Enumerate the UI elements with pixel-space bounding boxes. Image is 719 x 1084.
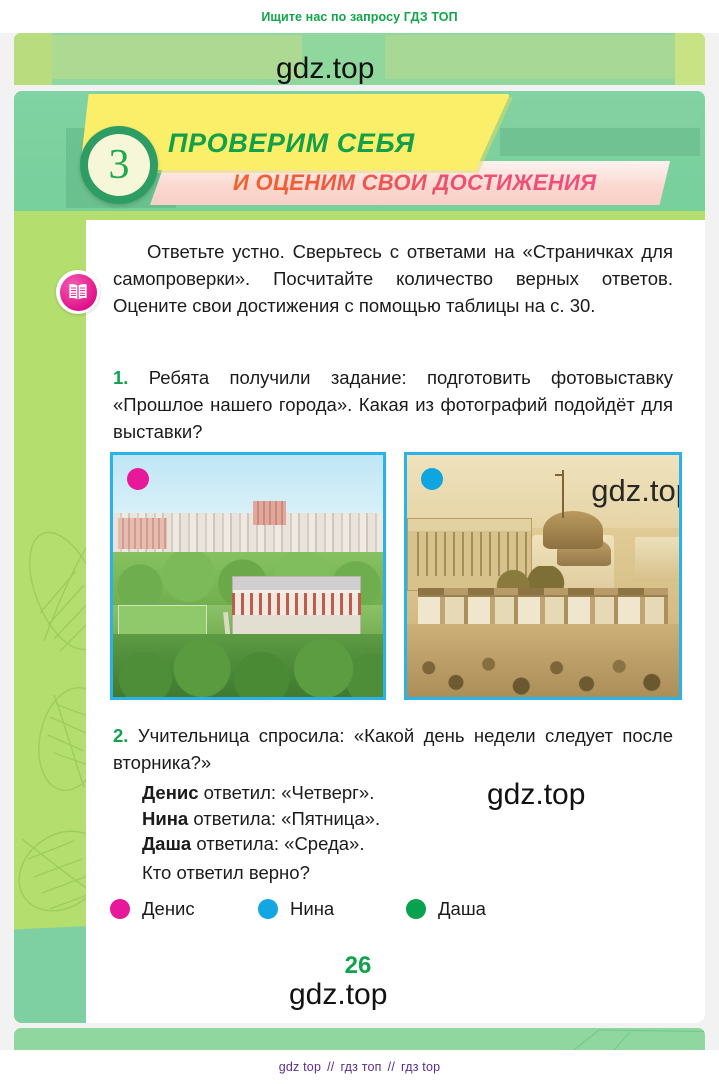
photo1-school-windows [232,593,362,615]
photo-watermark: gdz.top [591,473,682,509]
question-1-text: Ребята получили задание: подготовить фот… [113,367,673,442]
option-dot-magenta [110,899,130,919]
page-number: 26 [345,952,372,980]
question-2-text: Учительница спросила: «Какой день недели… [113,725,673,773]
footer-separator-2: // [388,1060,395,1074]
answer-name: Даша [142,833,191,854]
prev-page-pale-block [52,35,302,79]
option-dot-blue [258,899,278,919]
option-nina[interactable]: Нина [258,898,334,920]
photo1-pink-block-left [118,518,167,549]
question-1-number: 1. [113,367,128,388]
option-label: Нина [290,898,334,920]
answer-verb: ответила: [196,833,279,854]
photo1-pink-block-right [253,501,285,525]
site-footer: gdz top//гдз топ//гдз top [0,1050,719,1084]
book-glyph [67,283,89,301]
promo-text: Ищите нас по запросу ГДЗ ТОП [261,10,457,24]
answer-verb: ответила: [193,808,276,829]
option-dasha[interactable]: Даша [406,898,486,920]
next-page-sliver [14,1028,705,1050]
prev-page-lime-left [14,33,52,85]
option-label: Даша [438,898,486,920]
header-green-block-right [500,128,700,156]
photo2-crowd [407,624,679,697]
answer-row: Денис ответил: «Четверг». [142,780,662,806]
page-number-badge: 26 [321,938,395,1012]
next-page-leaf-outline [14,1028,705,1050]
footer-part-1: gdz top [279,1060,321,1074]
question-1: 1. Ребята получили задание: подготовить … [113,364,673,445]
header-green-block-top-right [508,96,698,128]
badge-number: 3 [109,144,130,186]
badge-inner-circle: 3 [88,134,150,196]
answer-list: Денис ответил: «Четверг». Нина ответила:… [142,780,662,857]
prev-page-pale-block-2 [385,35,675,79]
option-denis[interactable]: Денис [110,898,195,920]
question-2-number: 2. [113,725,128,746]
photo1-foreground-trees [113,634,383,697]
question-2: 2. Учительница спросила: «Какой день нед… [113,722,673,776]
answer-row: Нина ответила: «Пятница». [142,806,662,832]
intro-text: Ответьте устно. Сверьтесь с ответами на … [113,241,673,316]
photo2-church-cross [555,474,564,476]
book-icon-circle [60,274,97,311]
photo1-marker-dot [127,468,149,490]
option-dot-green [406,899,426,919]
previous-page-sliver [14,33,705,85]
prev-page-lime-right [675,33,705,85]
section-number-badge: 3 [80,126,158,204]
answer-name: Денис [142,782,199,803]
option-label: Денис [142,898,195,920]
photo-row: gdz.top [110,452,680,694]
answer-verb: ответил: [204,782,276,803]
section-title-line-1: ПРОВЕРИМ СЕБЯ [168,128,415,159]
open-book-icon [56,270,100,314]
who-answered-correctly-question: Кто ответил верно? [142,862,310,884]
photo-modern-city[interactable] [110,452,386,700]
intro-paragraph: Ответьте устно. Сверьтесь с ответами на … [113,238,673,319]
photo2-church-spire [562,470,564,518]
answer-value: «Четверг». [281,782,374,803]
section-title-line-2: И ОЦЕНИМ СВОИ ДОСТИЖЕНИЯ [233,170,597,196]
footer-part-3: гдз top [401,1060,440,1074]
footer-text: gdz top//гдз топ//гдз top [279,1060,441,1074]
promo-strip: Ищите нас по запросу ГДЗ ТОП [0,0,719,33]
answer-value: «Пятница». [281,808,380,829]
photo-historic-market[interactable]: gdz.top [404,452,682,700]
textbook-page: Ищите нас по запросу ГДЗ ТОП [0,0,719,1084]
answer-row: Даша ответила: «Среда». [142,831,662,857]
footer-part-2: гдз топ [340,1060,381,1074]
answer-options-row: Денис Нина Даша [110,898,630,924]
photo2-church-dome [543,511,603,550]
answer-name: Нина [142,808,188,829]
footer-separator-1: // [327,1060,334,1074]
answer-value: «Среда». [284,833,364,854]
photo2-marker-dot [421,468,443,490]
photo2-right-building [635,537,679,581]
